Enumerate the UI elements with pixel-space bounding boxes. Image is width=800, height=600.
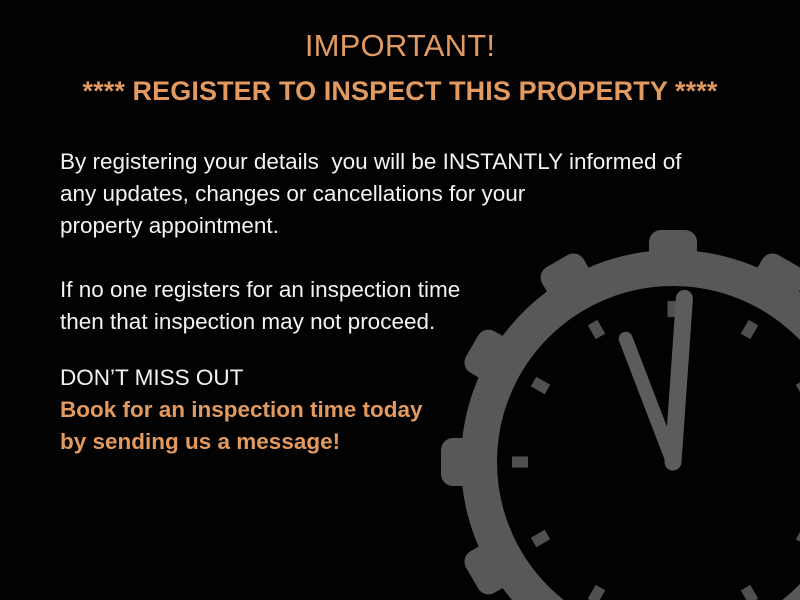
cta-send-message: by sending us a message! <box>60 426 423 458</box>
paragraph-no-registration: If no one registers for an inspection ti… <box>60 274 460 338</box>
cta-dont-miss-out: DON’T MISS OUT <box>60 362 423 394</box>
call-to-action-block: DON’T MISS OUT Book for an inspection ti… <box>60 362 423 458</box>
paragraph-registering-line-3: property appointment. <box>60 210 682 242</box>
page-title-register: **** REGISTER TO INSPECT THIS PROPERTY *… <box>0 76 800 107</box>
paragraph-registering-line-1: By registering your details you will be … <box>60 146 682 178</box>
paragraph-no-registration-line-1: If no one registers for an inspection ti… <box>60 274 460 306</box>
paragraph-no-registration-line-2: then that inspection may not proceed. <box>60 306 460 338</box>
paragraph-registering-line-2: any updates, changes or cancellations fo… <box>60 178 682 210</box>
text-layer: IMPORTANT! **** REGISTER TO INSPECT THIS… <box>0 0 800 600</box>
paragraph-registering: By registering your details you will be … <box>60 146 682 242</box>
page-title-important: IMPORTANT! <box>0 28 800 64</box>
cta-book-inspection: Book for an inspection time today <box>60 394 423 426</box>
slide-canvas: IMPORTANT! **** REGISTER TO INSPECT THIS… <box>0 0 800 600</box>
